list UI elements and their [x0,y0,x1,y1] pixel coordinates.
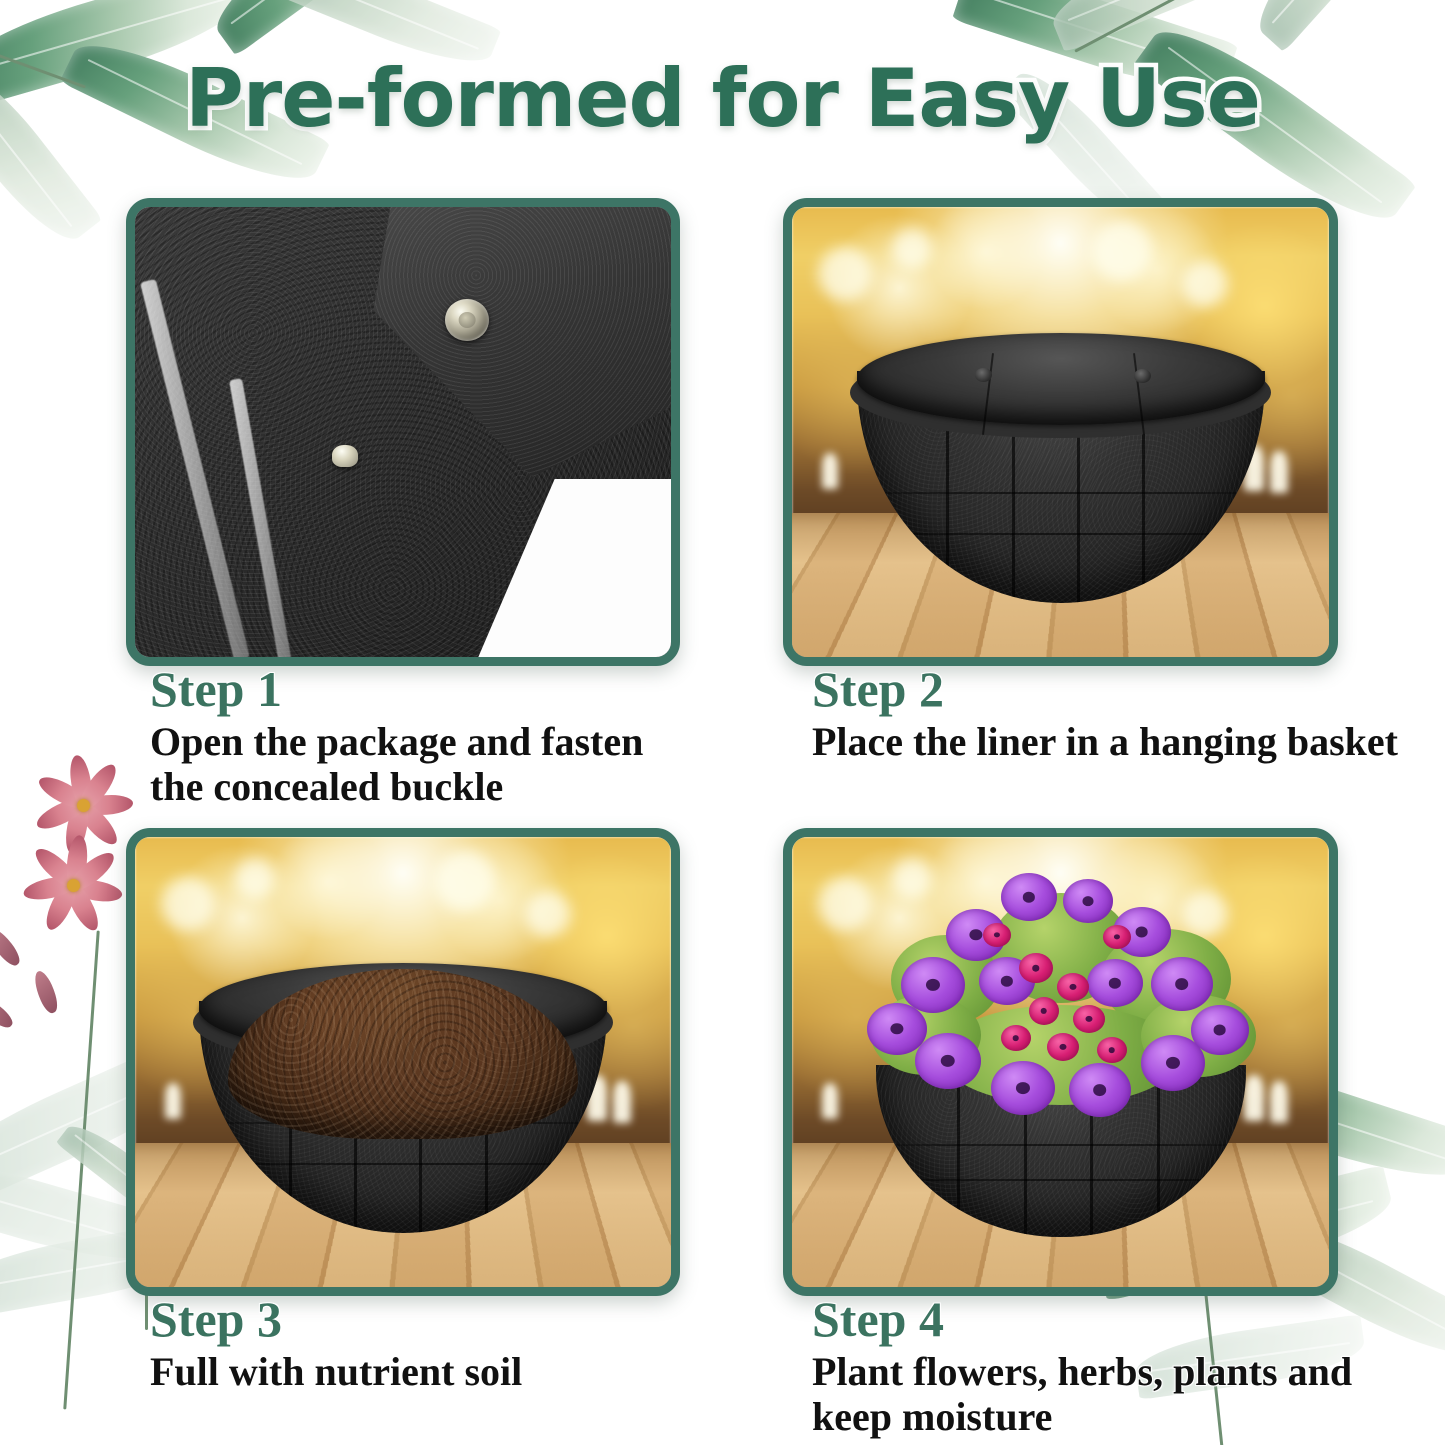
stem-icon [1074,0,1226,53]
purple-petunia-icon [1087,959,1143,1007]
step-2-description: Place the liner in a hanging basket [812,720,1412,765]
purple-petunia-icon [915,1033,981,1089]
step-4-image-panel [783,828,1338,1296]
petunia-arrangement [851,865,1271,1115]
magenta-petunia-icon [1047,1033,1079,1061]
nutrient-soil [228,969,578,1139]
planted-flowers-photo [792,837,1329,1287]
step-2-label: Step 2 [812,664,1412,714]
magenta-petunia-icon [1019,953,1053,983]
step-3-caption: Step 3 Full with nutrient soil [150,1294,710,1395]
leaf-icon [1242,0,1438,52]
step-1-image-panel [126,198,680,666]
purple-petunia-icon [901,957,965,1013]
step-1-description: Open the package and fasten the conceale… [150,720,710,810]
page-title: Pre-formed for Easy Use [0,52,1445,145]
magenta-petunia-icon [1029,997,1059,1025]
magenta-petunia-icon [1001,1025,1031,1051]
step-4-description: Plant flowers, herbs, plants and keep mo… [812,1350,1412,1440]
flower-bud-icon [31,969,61,1016]
pink-flower-icon [68,880,78,890]
step-2-image-panel [783,198,1338,666]
empty-liner-photo [792,207,1329,657]
flower-bud-icon [0,925,24,970]
leaf-icon [202,0,438,56]
flower-bud-icon [0,992,16,1032]
purple-petunia-icon [991,1061,1055,1115]
snap-button-icon [445,299,489,341]
stem-icon [63,930,99,1409]
step-4-label: Step 4 [812,1294,1412,1344]
magenta-petunia-icon [1057,973,1089,1001]
soil-filled-photo [135,837,671,1287]
infographic-page: Pre-formed for Easy Use [0,0,1445,1445]
step-4-caption: Step 4 Plant flowers, herbs, plants and … [812,1294,1412,1440]
leaf-icon [1043,0,1297,53]
purple-petunia-icon [1001,873,1057,921]
magenta-petunia-icon [1103,925,1131,949]
felt-closeup-photo [135,207,671,657]
step-3-label: Step 3 [150,1294,710,1344]
magenta-petunia-icon [1073,1005,1105,1033]
snap-stud-icon [332,445,358,467]
magenta-petunia-icon [1097,1037,1127,1063]
step-3-image-panel [126,828,680,1296]
felt-basket-liner [857,333,1265,603]
purple-petunia-icon [1069,1063,1131,1117]
purple-petunia-icon [1141,1035,1205,1091]
step-3-description: Full with nutrient soil [150,1350,710,1395]
purple-petunia-icon [1151,957,1213,1011]
step-1-caption: Step 1 Open the package and fasten the c… [150,664,710,810]
step-2-caption: Step 2 Place the liner in a hanging bask… [812,664,1412,765]
pink-flower-icon [78,800,88,810]
magenta-petunia-icon [983,923,1011,947]
step-1-label: Step 1 [150,664,710,714]
purple-petunia-icon [1063,879,1113,923]
